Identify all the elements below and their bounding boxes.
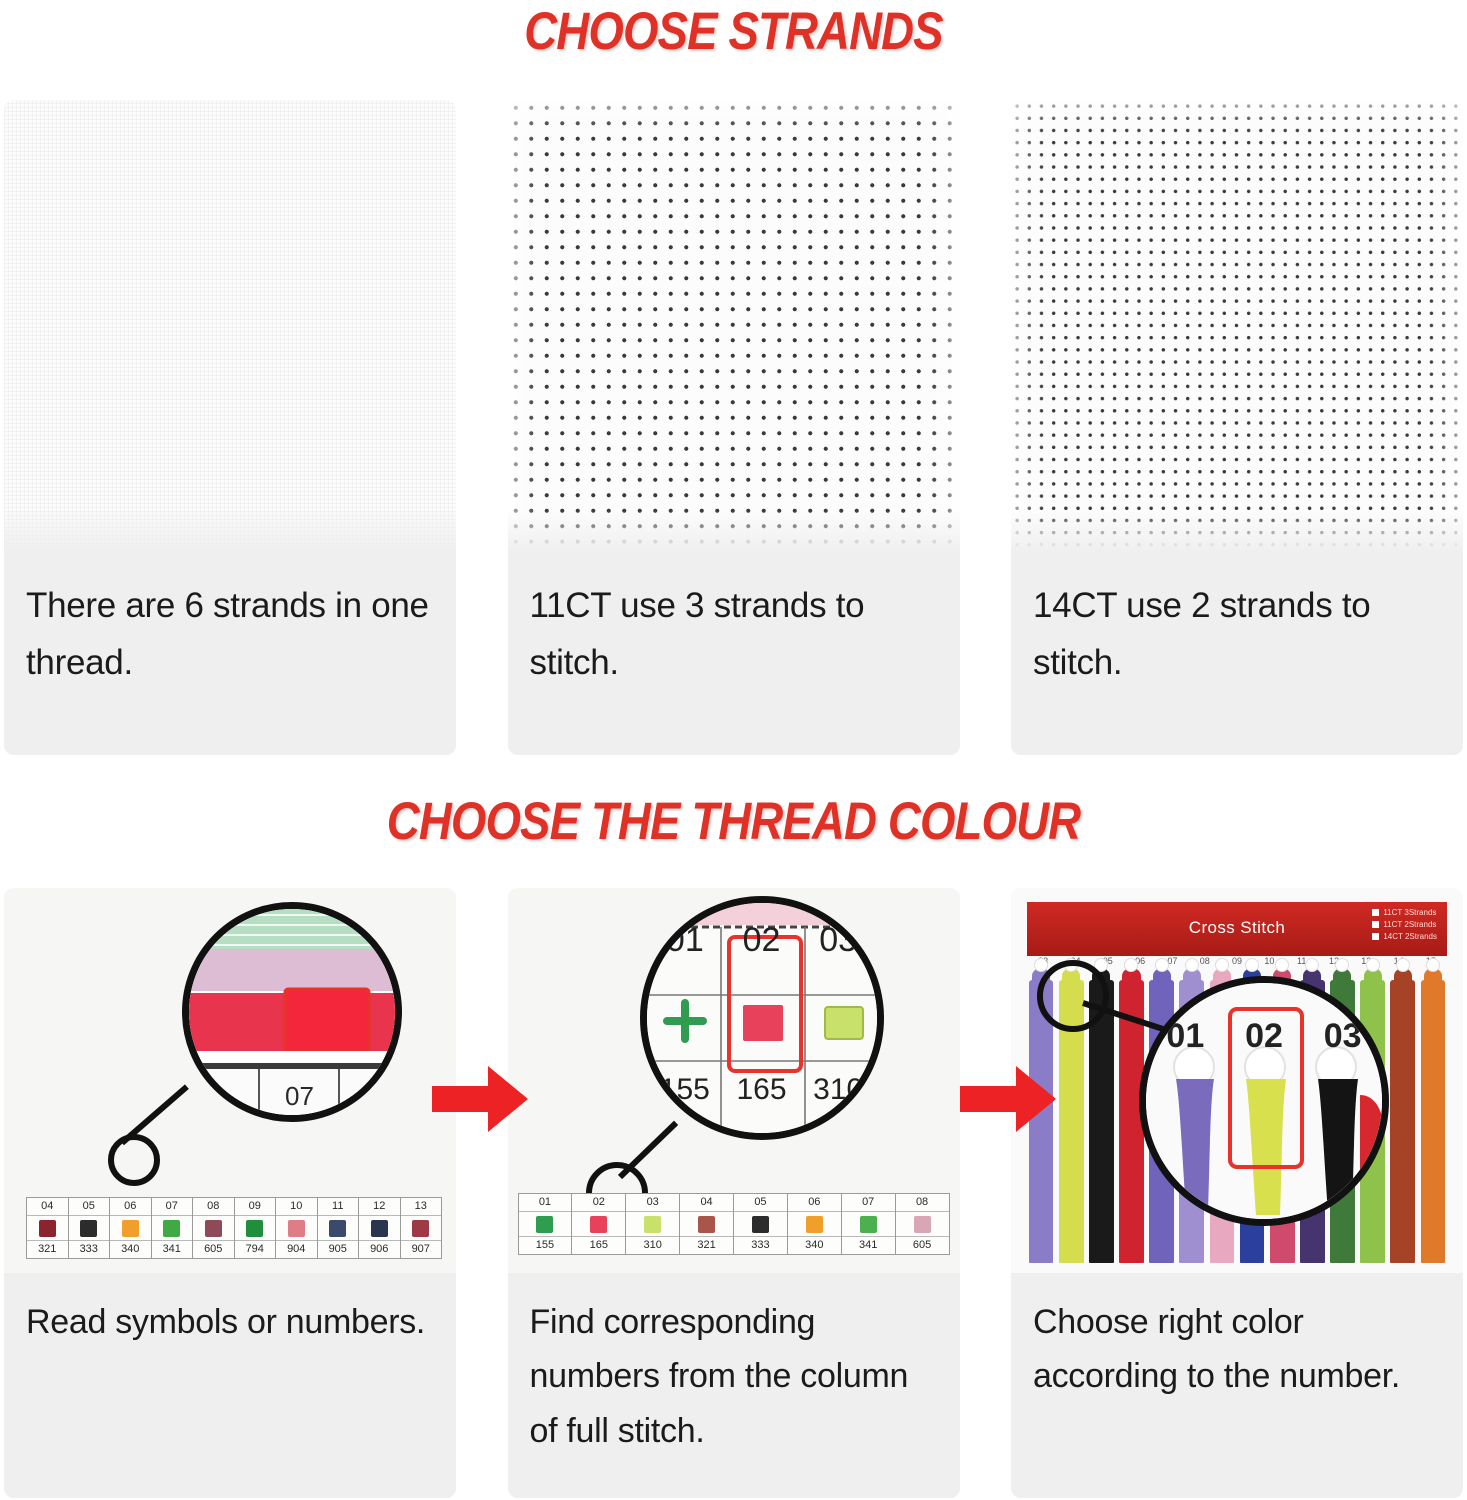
punch-hole-icon (1124, 958, 1138, 972)
plain-cloth-texture (4, 100, 456, 552)
pattern-legend: 0432105333063400734108605097941090411905… (26, 1197, 442, 1259)
legend-swatch (329, 1220, 346, 1237)
legend-column: 12906 (359, 1198, 401, 1258)
aida-11ct-grid (508, 100, 960, 552)
legend-code: 04 (680, 1194, 733, 1211)
magnified-symbol-02 (743, 1005, 783, 1041)
thread-colour-card-row: 24 02 (0, 888, 1467, 1500)
caption-14ct: 14CT use 2 strands to stitch. (1011, 552, 1463, 755)
legend-symbol (152, 1215, 193, 1241)
magnified-highlight-box (285, 989, 369, 1051)
thread-card-option-label: 11CT 3Strands (1383, 908, 1436, 917)
legend-dmc: 310 (626, 1237, 679, 1254)
legend-symbol (519, 1211, 572, 1237)
punch-hole-icon (1245, 958, 1259, 972)
legend-dmc: 904 (276, 1241, 317, 1258)
legend-code: 11 (318, 1198, 359, 1215)
arrow-right-icon (960, 1062, 1056, 1136)
legend-dmc: 341 (152, 1241, 193, 1258)
legend-swatch (752, 1216, 769, 1233)
legend-dmc: 321 (680, 1237, 733, 1254)
thread-card-option-label: 14CT 2Strands (1383, 932, 1437, 941)
thread-card-options: 11CT 3Strands11CT 2Strands14CT 2Strands (1372, 908, 1437, 941)
legend-swatch (371, 1220, 388, 1237)
magnified-slot-01: 01 (1146, 983, 1225, 1219)
magnified-stitch-detail: 8 07 (189, 909, 399, 1119)
section-title-choose-strands: CHOOSE STRANDS (103, 2, 1365, 62)
legend-code: 08 (896, 1194, 949, 1211)
skein-body (1421, 980, 1446, 1263)
section-title-choose-thread-colour: CHOOSE THE THREAD COLOUR (103, 792, 1365, 852)
checkbox-icon (1372, 921, 1379, 928)
legend-column: 06340 (110, 1198, 152, 1258)
legend-symbol (110, 1215, 151, 1241)
punch-hole-icon (1275, 958, 1289, 972)
legend-symbol (842, 1211, 895, 1237)
chart-legend: 0115502165033100432105333063400734108605 (518, 1193, 950, 1255)
legend-code: 03 (626, 1194, 679, 1211)
legend-code: 10 (276, 1198, 317, 1215)
punch-hole-icon (1034, 958, 1048, 972)
magnified-slot-03: 03 (1303, 983, 1382, 1219)
legend-swatch (806, 1216, 823, 1233)
legend-dmc: 340 (110, 1241, 151, 1258)
photo-six-strands (4, 100, 456, 552)
checkbox-icon (1372, 909, 1379, 916)
legend-swatch (122, 1220, 139, 1237)
legend-column: 04321 (27, 1198, 69, 1258)
punch-hole-icon (1305, 958, 1319, 972)
legend-code: 05 (734, 1194, 787, 1211)
legend-symbol (401, 1215, 442, 1241)
caption-find-numbers: Find corresponding numbers from the colu… (508, 1273, 960, 1498)
legend-swatch (205, 1220, 222, 1237)
legend-dmc: 905 (318, 1241, 359, 1258)
checkbox-icon (1372, 933, 1379, 940)
legend-dmc: 321 (27, 1241, 68, 1258)
legend-code: 09 (235, 1198, 276, 1215)
legend-column: 05333 (69, 1198, 111, 1258)
legend-column: 03310 (626, 1194, 680, 1254)
legend-code: 08 (193, 1198, 234, 1215)
legend-column: 04321 (680, 1194, 734, 1254)
photo-thread-card: Cross Stitch 11CT 3Strands11CT 2Strands1… (1011, 888, 1463, 1273)
legend-code: 04 (27, 1198, 68, 1215)
legend-column: 07341 (842, 1194, 896, 1254)
card-14ct-two-strands: 14CT use 2 strands to stitch. (1011, 100, 1463, 755)
legend-swatch (590, 1216, 607, 1233)
legend-column: 13907 (401, 1198, 442, 1258)
legend-dmc: 341 (842, 1237, 895, 1254)
legend-column: 08605 (193, 1198, 235, 1258)
card-read-symbols: 24 02 (4, 888, 456, 1498)
magnified-code-07: 07 (285, 1081, 314, 1111)
legend-code: 13 (401, 1198, 442, 1215)
thread-skein (1419, 980, 1447, 1263)
legend-swatch (914, 1216, 931, 1233)
legend-dmc: 333 (69, 1241, 110, 1258)
card-six-strands: There are 6 strands in one thread. (4, 100, 456, 755)
caption-11ct: 11CT use 3 strands to stitch. (508, 552, 960, 755)
legend-column: 10904 (276, 1198, 318, 1258)
legend-dmc: 794 (235, 1241, 276, 1258)
legend-column: 11905 (318, 1198, 360, 1258)
punch-hole-icon (1335, 958, 1349, 972)
legend-code: 05 (69, 1198, 110, 1215)
caption-choose-color: Choose right color according to the numb… (1011, 1273, 1463, 1498)
legend-code: 01 (519, 1194, 572, 1211)
legend-swatch (536, 1216, 553, 1233)
strands-card-row: There are 6 strands in one thread. (0, 100, 1467, 760)
legend-dmc: 333 (734, 1237, 787, 1254)
legend-symbol (626, 1211, 679, 1237)
infographic-page: CHOOSE STRANDS (0, 0, 1467, 1500)
legend-dmc: 340 (788, 1237, 841, 1254)
magnified-chart-columns (647, 903, 879, 1135)
legend-dmc: 906 (359, 1241, 400, 1258)
photo-fade (508, 510, 960, 552)
photo-11ct-aida (508, 100, 960, 552)
magnified-slot-02: 02 (1225, 983, 1304, 1219)
magnifier-circle: 01 02 03 (1139, 976, 1389, 1226)
punch-hole-icon (1426, 958, 1440, 972)
legend-symbol (896, 1211, 949, 1237)
legend-column: 01155 (519, 1194, 573, 1254)
legend-column: 08605 (896, 1194, 949, 1254)
photo-stitched-pattern: 24 02 (4, 888, 456, 1273)
legend-column: 05333 (734, 1194, 788, 1254)
legend-swatch (39, 1220, 56, 1237)
aida-14ct-grid (1011, 100, 1463, 552)
photo-fade (1011, 510, 1463, 552)
punch-hole-icon (1396, 958, 1410, 972)
legend-swatch (288, 1220, 305, 1237)
legend-column: 06340 (788, 1194, 842, 1254)
magnified-slot-labels: 01 02 03 (1146, 983, 1382, 1219)
legend-column: 07341 (152, 1198, 194, 1258)
punch-hole-icon (1185, 958, 1199, 972)
punch-hole-icon (1215, 958, 1229, 972)
legend-dmc: 155 (519, 1237, 572, 1254)
caption-six-strands: There are 6 strands in one thread. (4, 552, 456, 755)
legend-code: 02 (572, 1194, 625, 1211)
legend-symbol (318, 1215, 359, 1241)
legend-symbol (572, 1211, 625, 1237)
thread-card-option: 14CT 2Strands (1372, 932, 1437, 941)
legend-dmc: 165 (572, 1237, 625, 1254)
legend-dmc: 907 (401, 1241, 442, 1258)
legend-swatch (860, 1216, 877, 1233)
legend-symbol (235, 1215, 276, 1241)
legend-symbol (359, 1215, 400, 1241)
legend-symbol (680, 1211, 733, 1237)
arrow-right-icon (432, 1062, 528, 1136)
legend-code: 12 (359, 1198, 400, 1215)
magnifier-target-circle (108, 1134, 160, 1186)
photo-fade (4, 510, 456, 552)
legend-code: 06 (110, 1198, 151, 1215)
thread-card-option: 11CT 2Strands (1372, 920, 1437, 929)
legend-swatch (246, 1220, 263, 1237)
punch-hole-icon (1155, 958, 1169, 972)
magnifier-circle: 8 07 (182, 902, 402, 1122)
legend-swatch (644, 1216, 661, 1233)
legend-column: 02165 (572, 1194, 626, 1254)
legend-code: 06 (788, 1194, 841, 1211)
caption-read-symbols: Read symbols or numbers. (4, 1273, 456, 1498)
skein-body (1390, 980, 1415, 1263)
legend-dmc: 605 (193, 1241, 234, 1258)
legend-swatch (80, 1220, 97, 1237)
legend-column: 09794 (235, 1198, 277, 1258)
thread-card-header: Cross Stitch 11CT 3Strands11CT 2Strands1… (1027, 902, 1447, 956)
legend-symbol (193, 1215, 234, 1241)
legend-symbol (27, 1215, 68, 1241)
legend-symbol (734, 1211, 787, 1237)
thread-card-option: 11CT 3Strands (1372, 908, 1437, 917)
legend-code: 07 (152, 1198, 193, 1215)
photo-14ct-aida (1011, 100, 1463, 552)
legend-swatch (412, 1220, 429, 1237)
thread-card-option-label: 11CT 2Strands (1383, 920, 1436, 929)
legend-code: 07 (842, 1194, 895, 1211)
card-choose-color: Cross Stitch 11CT 3Strands11CT 2Strands1… (1011, 888, 1463, 1498)
card-11ct-three-strands: 11CT use 3 strands to stitch. (508, 100, 960, 755)
legend-symbol (69, 1215, 110, 1241)
card-find-numbers: 80 90 100 110 (508, 888, 960, 1498)
legend-symbol (788, 1211, 841, 1237)
photo-printed-chart: 80 90 100 110 (508, 888, 960, 1273)
magnifier-circle: 01 155 02 165 03 310 (640, 896, 884, 1140)
legend-swatch (698, 1216, 715, 1233)
legend-swatch (163, 1220, 180, 1237)
thread-skein (1389, 980, 1417, 1263)
magnified-symbol-03 (825, 1007, 863, 1039)
punch-hole-icon (1366, 958, 1380, 972)
legend-dmc: 605 (896, 1237, 949, 1254)
magnifier-target-circle (1037, 960, 1109, 1032)
legend-symbol (276, 1215, 317, 1241)
